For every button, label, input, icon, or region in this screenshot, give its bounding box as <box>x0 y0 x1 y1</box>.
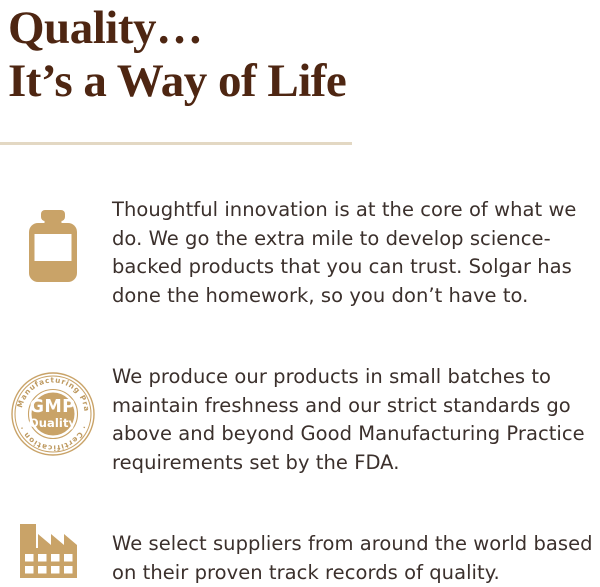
page-title: Quality… It’s a Way of Life <box>8 2 568 108</box>
factory-icon <box>0 518 105 582</box>
feature-row-manufacturing-text: We produce our products in small batches… <box>112 363 600 477</box>
feature-row-innovation-text: Thoughtful innovation is at the core of … <box>112 196 600 310</box>
feature-text: We produce our products in small batches… <box>112 363 600 477</box>
heading-divider <box>0 142 352 145</box>
feature-text: Thoughtful innovation is at the core of … <box>112 196 600 310</box>
page-title-line-2: It’s a Way of Life <box>8 55 568 108</box>
feature-row-suppliers-text: We select suppliers from around the worl… <box>112 530 600 587</box>
gmp-quality-seal-icon: Good Manufacturing Practice · Certificat… <box>0 372 105 456</box>
feature-text: We select suppliers from around the worl… <box>112 530 600 587</box>
page-title-line-1: Quality… <box>8 2 568 55</box>
supplement-bottle-icon <box>0 210 105 282</box>
